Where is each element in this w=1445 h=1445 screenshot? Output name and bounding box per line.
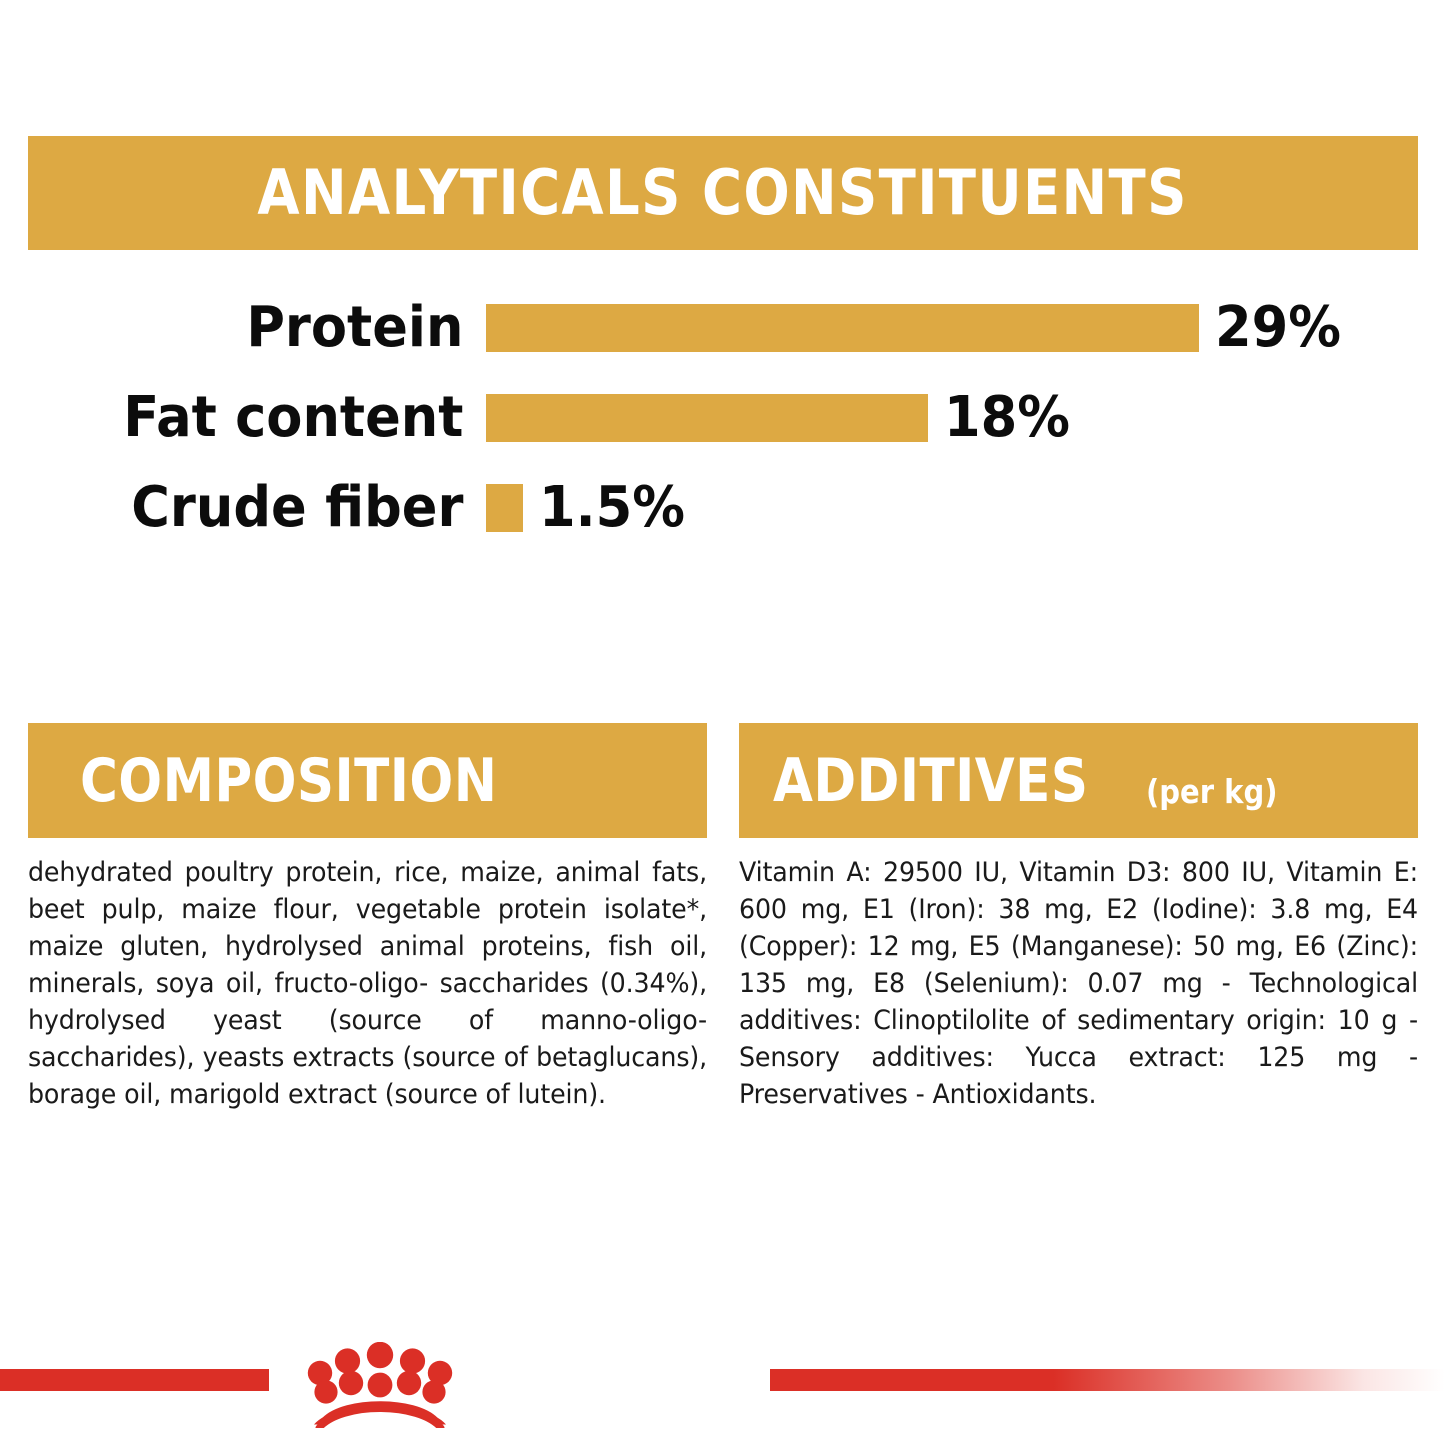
chart-bar-wrap-fat-content: 18% xyxy=(486,390,1418,446)
chart-bar-wrap-crude-fiber: 1.5% xyxy=(486,480,1418,536)
additives-heading-text: ADDITIVES xyxy=(773,751,1088,811)
chart-row-crude-fiber: Crude fiber 1.5% xyxy=(28,472,1418,544)
footer-rule-right xyxy=(770,1369,1445,1391)
composition-body-text: dehydrated poultry protein, rice, maize,… xyxy=(28,854,707,1113)
analyticals-heading-text: ANALYTICALS CONSTITUENTS xyxy=(258,162,1188,224)
chart-label-crude-fiber: Crude fiber xyxy=(55,480,486,536)
chart-value-fat-content: 18% xyxy=(944,390,1070,446)
analyticals-bar-chart: Protein 29% Fat content 18% Crude fiber … xyxy=(28,292,1418,552)
chart-bar-crude-fiber xyxy=(486,484,523,532)
royal-canin-crown-icon xyxy=(300,1342,460,1428)
composition-heading-band: COMPOSITION xyxy=(28,723,707,838)
additives-heading-band: ADDITIVES (per kg) xyxy=(739,723,1418,838)
analyticals-heading-band: ANALYTICALS CONSTITUENTS xyxy=(28,136,1418,250)
chart-bar-wrap-protein: 29% xyxy=(486,300,1418,356)
footer-rule-left xyxy=(0,1369,269,1391)
additives-heading-suffix: (per kg) xyxy=(1146,775,1278,838)
footer xyxy=(0,1342,1445,1442)
composition-heading-text: COMPOSITION xyxy=(80,751,497,811)
additives-body-text: Vitamin A: 29500 IU, Vitamin D3: 800 IU,… xyxy=(739,854,1418,1113)
chart-row-protein: Protein 29% xyxy=(28,292,1418,364)
additives-column: ADDITIVES (per kg) Vitamin A: 29500 IU, … xyxy=(739,723,1418,1113)
details-columns: COMPOSITION dehydrated poultry protein, … xyxy=(28,723,1418,1113)
analyticals-constituents-section: ANALYTICALS CONSTITUENTS xyxy=(28,136,1418,250)
chart-bar-fat-content xyxy=(486,394,928,442)
chart-label-protein: Protein xyxy=(55,300,486,356)
chart-value-crude-fiber: 1.5% xyxy=(539,480,685,536)
chart-value-protein: 29% xyxy=(1215,300,1341,356)
chart-row-fat-content: Fat content 18% xyxy=(28,382,1418,454)
composition-column: COMPOSITION dehydrated poultry protein, … xyxy=(28,723,707,1113)
chart-label-fat-content: Fat content xyxy=(55,390,486,446)
chart-bar-protein xyxy=(486,304,1199,352)
